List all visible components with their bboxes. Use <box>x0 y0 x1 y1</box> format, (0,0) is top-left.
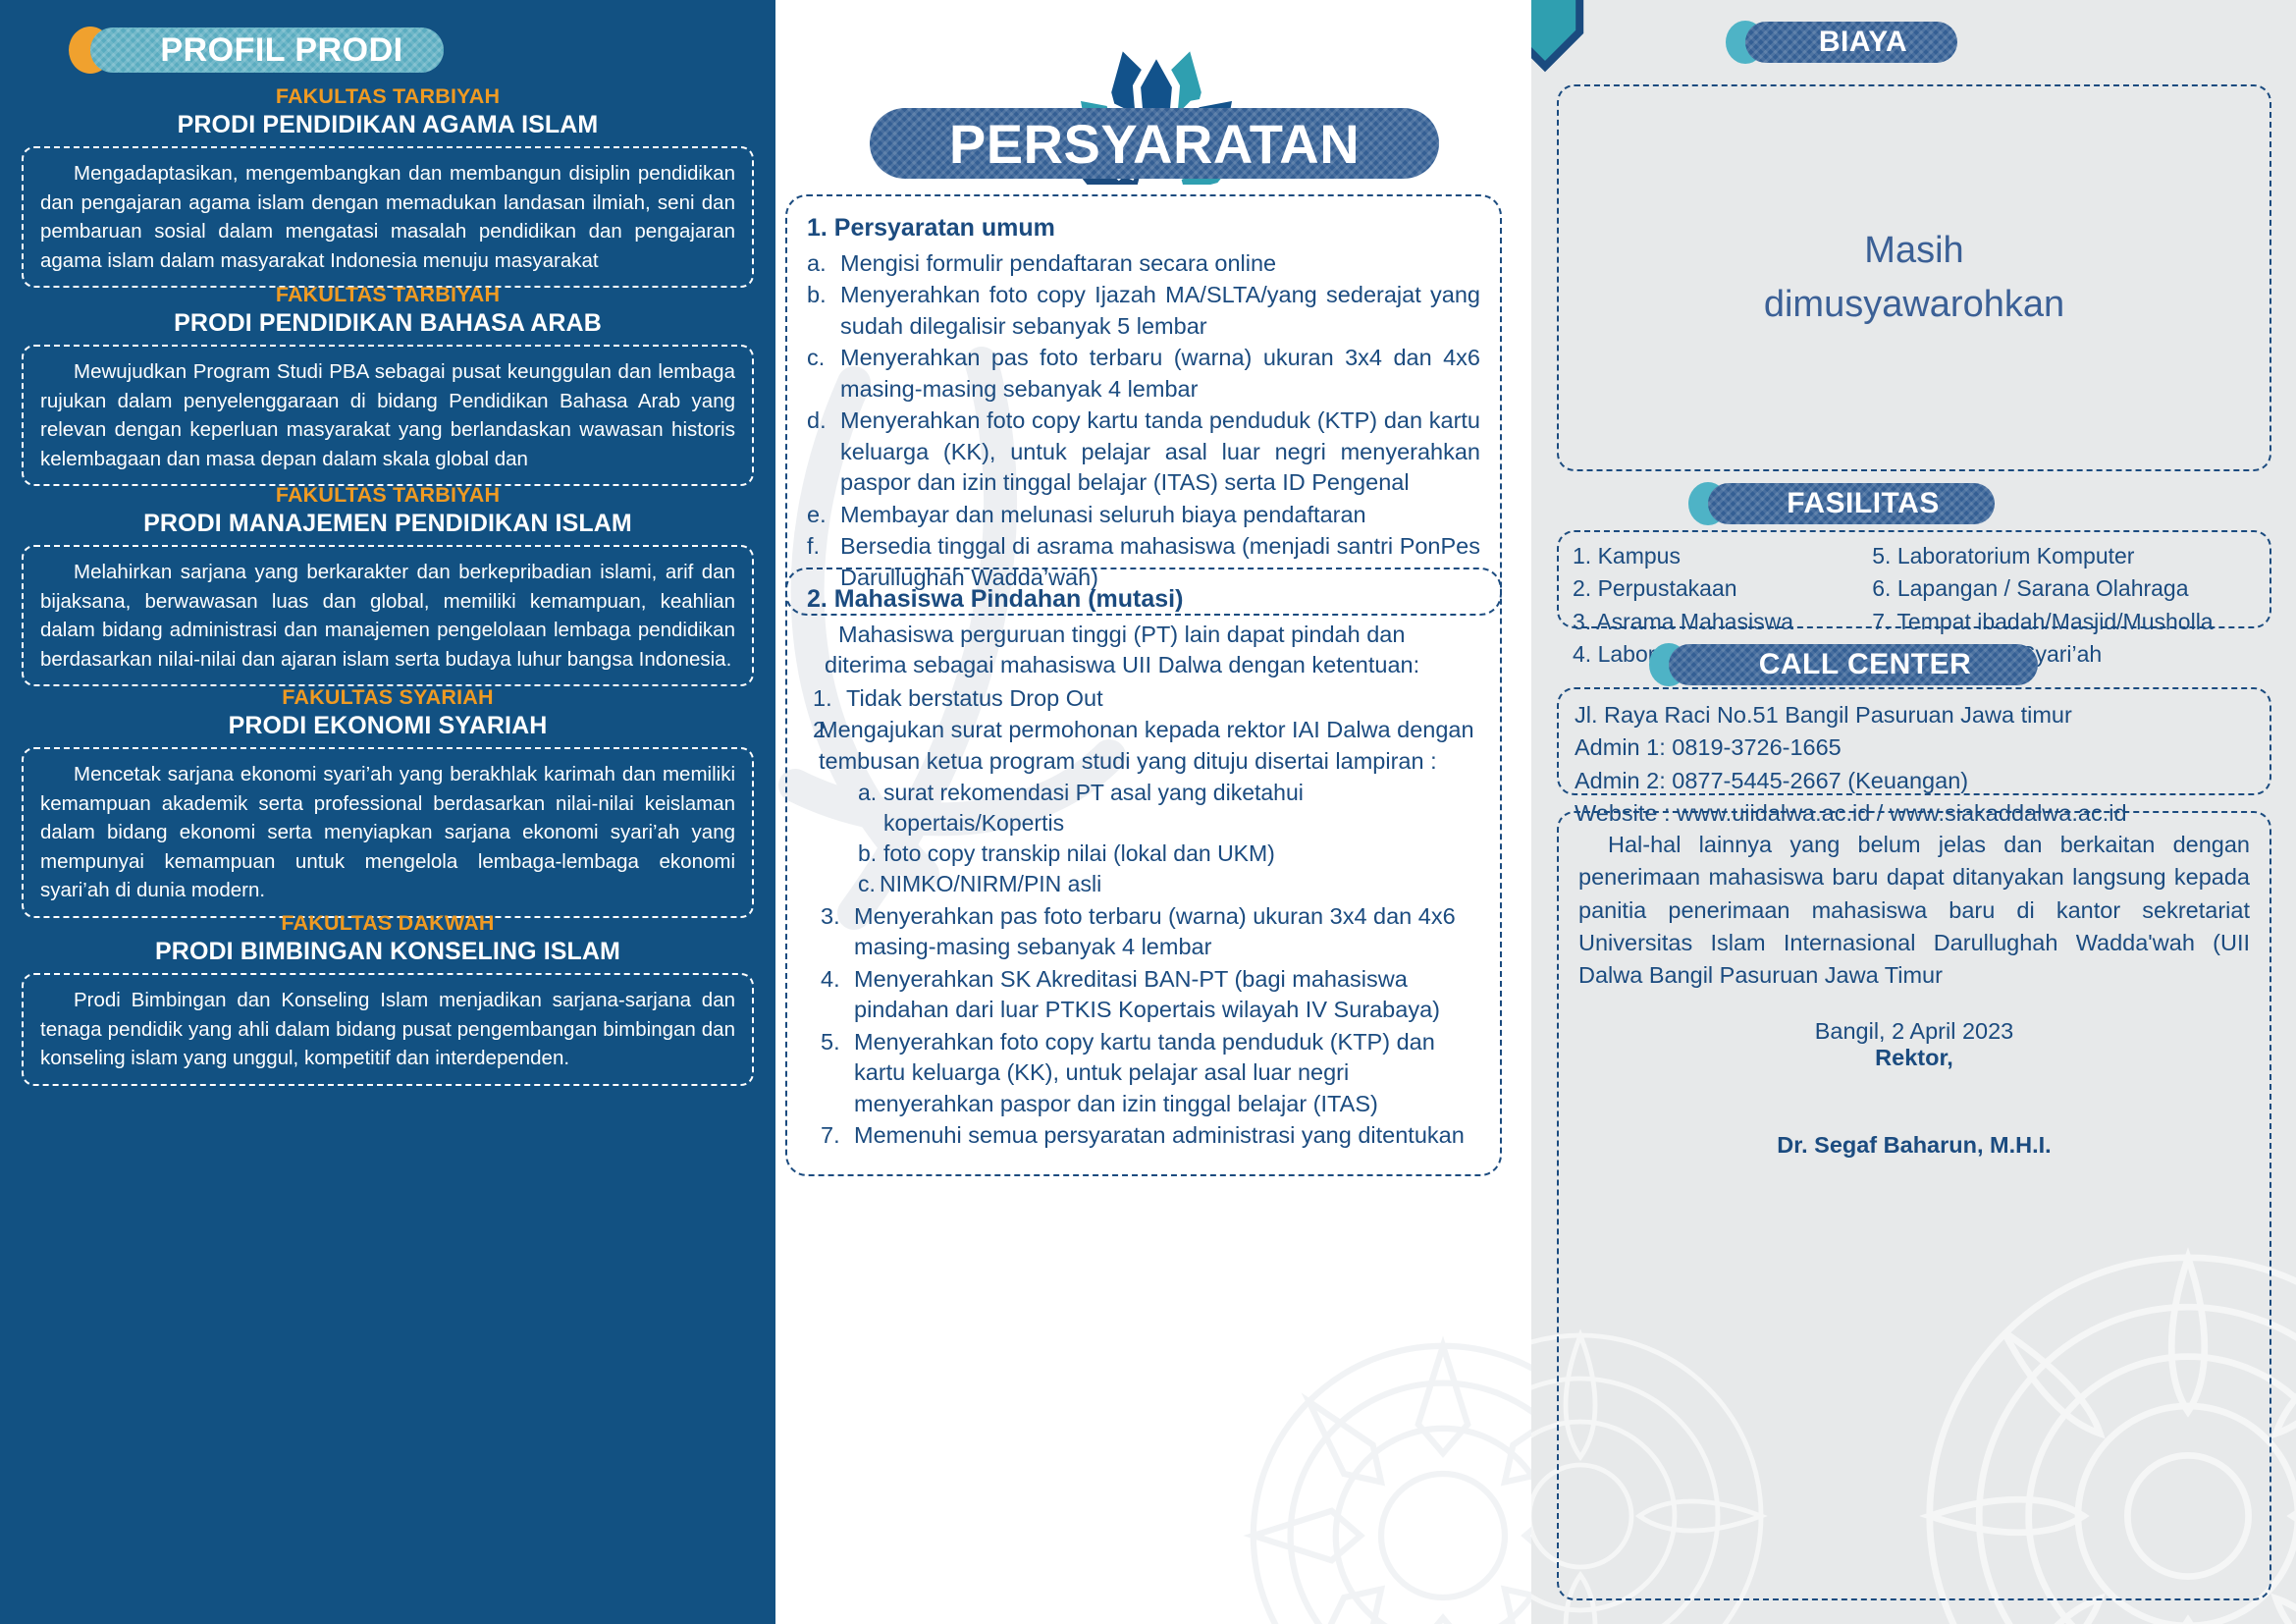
list-item: d. Menyerahkan foto copy kartu tanda pen… <box>807 406 1480 498</box>
list-item: a. surat rekomendasi PT asal yang diketa… <box>858 778 1480 839</box>
signer-name: Dr. Segaf Baharun, M.H.I. <box>1578 1132 2250 1159</box>
list-text: Menyerahkan foto copy kartu tanda pendud… <box>840 406 1480 498</box>
list-item: 4. Menyerahkan SK Akreditasi BAN-PT (bag… <box>821 964 1480 1026</box>
list-text: Membayar dan melunasi seluruh biaya pend… <box>840 500 1480 530</box>
list-text: NIMKO/NIRM/PIN asli <box>880 869 1101 899</box>
fasilitas-box: 1. Kampus 2. Perpustakaan 3. Asrama Maha… <box>1557 530 2271 628</box>
list-text: Memenuhi semua persyaratan administrasi … <box>854 1120 1480 1151</box>
list-item: 7. Tempat ibadah/Masjid/Musholla <box>1872 606 2256 638</box>
program-description: Melahirkan sarjana yang berkarakter dan … <box>40 558 735 674</box>
list-text: Mengisi formulir pendaftaran secara onli… <box>840 248 1480 279</box>
list-text: Menyerahkan pas foto terbaru (warna) uku… <box>854 901 1480 963</box>
list-item: 3. Asrama Mahasiswa <box>1573 606 1872 638</box>
section-title: 1. Persyaratan umum <box>807 214 1480 243</box>
program-description-box: Mencetak sarjana ekonomi syari’ah yang b… <box>22 747 754 918</box>
program-name: PRODI PENDIDIKAN BAHASA ARAB <box>22 309 754 338</box>
program-description-box: Prodi Bimbingan dan Konseling Islam menj… <box>22 973 754 1086</box>
list-item: e. Membayar dan melunasi seluruh biaya p… <box>807 500 1480 530</box>
list-marker: c. <box>858 869 880 899</box>
list-item: 6. Lapangan / Sarana Olahraga <box>1872 572 2256 605</box>
list-item: 3. Menyerahkan pas foto terbaru (warna) … <box>821 901 1480 963</box>
footer-note: Hal-hal lainnya yang belum jelas dan ber… <box>1578 829 2250 993</box>
fasilitas-header-label: FASILITAS <box>1708 483 1995 524</box>
footer-note-text: Hal-hal lainnya yang belum jelas dan ber… <box>1578 829 2250 993</box>
list-marker: 7. <box>821 1120 854 1151</box>
faculty-name: FAKULTAS TARBIYAH <box>22 483 754 508</box>
biaya-value: Masih dimusyawarohkan <box>1764 224 2064 332</box>
admin1-line[interactable]: Admin 1: 0819-3726-1665 <box>1575 731 2254 764</box>
admin2-line[interactable]: Admin 2: 0877-5445-2667 (Keuangan) <box>1575 765 2254 797</box>
list-marker: 3. <box>821 901 854 963</box>
list-text: Menyerahkan foto copy Ijazah MA/SLTA/yan… <box>840 280 1480 342</box>
program-block-3: FAKULTAS TARBIYAH PRODI MANAJEMEN PENDID… <box>22 483 754 686</box>
list-marker: a. <box>807 248 840 279</box>
list-item: 2. Perpustakaan <box>1573 572 1872 605</box>
list-item: a. Mengisi formulir pendaftaran secara o… <box>807 248 1480 279</box>
footer-note-box: Hal-hal lainnya yang belum jelas dan ber… <box>1557 811 2271 1600</box>
program-description: Mencetak sarjana ekonomi syari’ah yang b… <box>40 760 735 905</box>
program-description: Prodi Bimbingan dan Konseling Islam menj… <box>40 986 735 1073</box>
transfer-attachments-list: a. surat rekomendasi PT asal yang diketa… <box>858 778 1480 898</box>
list-marker: b. <box>807 280 840 342</box>
list-item: 5. Menyerahkan foto copy kartu tanda pen… <box>821 1027 1480 1119</box>
program-description: Mewujudkan Program Studi PBA sebagai pus… <box>40 357 735 473</box>
persyaratan-header: PERSYARATAN <box>870 108 1439 179</box>
list-item: c. Menyerahkan pas foto terbaru (warna) … <box>807 343 1480 405</box>
program-description-box: Mewujudkan Program Studi PBA sebagai pus… <box>22 345 754 486</box>
list-item: 1. Tidak berstatus Drop Out <box>813 683 1480 714</box>
list-item: c. NIMKO/NIRM/PIN asli <box>858 869 1480 899</box>
program-name: PRODI MANAJEMEN PENDIDIKAN ISLAM <box>22 510 754 538</box>
program-name: PRODI BIMBINGAN KONSELING ISLAM <box>22 938 754 966</box>
profil-prodi-panel: PROFIL PRODI FAKULTAS TARBIYAH PRODI PEN… <box>0 0 775 1624</box>
mandala-watermark-icon <box>1237 1329 1531 1624</box>
program-block-2: FAKULTAS TARBIYAH PRODI PENDIDIKAN BAHAS… <box>22 283 754 486</box>
faculty-name: FAKULTAS TARBIYAH <box>22 84 754 109</box>
biaya-value-line2: dimusyawarohkan <box>1764 278 2064 332</box>
list-marker: b. <box>858 839 883 869</box>
signature-block: Bangil, 2 April 2023 Rektor, Dr. Segaf B… <box>1578 1018 2250 1159</box>
info-panel: BIAYA Masih dimusyawarohkan FASILITAS 1.… <box>1531 0 2296 1624</box>
biaya-header: BIAYA <box>1745 22 1957 63</box>
list-text: surat rekomendasi PT asal yang diketahui… <box>883 778 1480 839</box>
profil-prodi-header-label: PROFIL PRODI <box>90 27 444 73</box>
list-text: Menyerahkan foto copy kartu tanda pendud… <box>854 1027 1480 1119</box>
signer-title: Rektor, <box>1578 1045 2250 1071</box>
general-requirements-list: a. Mengisi formulir pendaftaran secara o… <box>807 248 1480 593</box>
list-text: Menyerahkan pas foto terbaru (warna) uku… <box>840 343 1480 405</box>
list-text: Tidak berstatus Drop Out <box>846 683 1480 714</box>
requirements-transfer-box: 2. Mahasiswa Pindahan (mutasi) Mahasiswa… <box>785 568 1502 1176</box>
program-description-box: Melahirkan sarjana yang berkarakter dan … <box>22 545 754 686</box>
brochure-page: PROFIL PRODI FAKULTAS TARBIYAH PRODI PEN… <box>0 0 2296 1624</box>
list-marker: 5. <box>821 1027 854 1119</box>
profil-prodi-header: PROFIL PRODI <box>90 27 444 73</box>
biaya-box: Masih dimusyawarohkan <box>1557 84 2271 471</box>
list-text: Mengajukan surat permohonan kepada rekto… <box>819 715 1480 777</box>
list-marker: 4. <box>821 964 854 1026</box>
faculty-name: FAKULTAS SYARIAH <box>22 685 754 710</box>
list-item: 5. Laboratorium Komputer <box>1872 540 2256 572</box>
program-name: PRODI PENDIDIKAN AGAMA ISLAM <box>22 111 754 139</box>
call-center-header: CALL CENTER <box>1669 644 2038 685</box>
list-marker: d. <box>807 406 840 498</box>
biaya-value-line1: Masih <box>1764 224 2064 278</box>
persyaratan-header-label: PERSYARATAN <box>870 108 1439 179</box>
program-block-5: FAKULTAS DAKWAH PRODI BIMBINGAN KONSELIN… <box>22 911 754 1086</box>
place-date: Bangil, 2 April 2023 <box>1578 1018 2250 1045</box>
faculty-name: FAKULTAS DAKWAH <box>22 911 754 936</box>
list-item: 2. Mengajukan surat permohonan kepada re… <box>813 715 1480 777</box>
list-item: 1. Kampus <box>1573 540 1872 572</box>
transfer-requirements-list: 1. Tidak berstatus Drop Out 2. Mengajuka… <box>813 683 1480 777</box>
list-item: b. foto copy transkip nilai (lokal dan U… <box>858 839 1480 869</box>
persyaratan-panel: PERSYARATAN 1. Persyaratan umum a. Mengi… <box>775 0 1531 1624</box>
call-center-header-label: CALL CENTER <box>1669 644 2038 685</box>
biaya-header-label: BIAYA <box>1745 22 1957 63</box>
address-line: Jl. Raya Raci No.51 Bangil Pasuruan Jawa… <box>1575 699 2254 731</box>
faculty-name: FAKULTAS TARBIYAH <box>22 283 754 307</box>
fasilitas-header: FASILITAS <box>1708 483 1995 524</box>
list-text: foto copy transkip nilai (lokal dan UKM) <box>883 839 1275 869</box>
list-item: b. Menyerahkan foto copy Ijazah MA/SLTA/… <box>807 280 1480 342</box>
transfer-requirements-rest: 3. Menyerahkan pas foto terbaru (warna) … <box>821 901 1480 1152</box>
transfer-intro: Mahasiswa perguruan tinggi (PT) lain dap… <box>825 620 1480 681</box>
call-center-box: Jl. Raya Raci No.51 Bangil Pasuruan Jawa… <box>1557 687 2271 795</box>
program-block-4: FAKULTAS SYARIAH PRODI EKONOMI SYARIAH M… <box>22 685 754 918</box>
list-marker: e. <box>807 500 840 530</box>
program-description-box: Mengadaptasikan, mengembangkan dan memba… <box>22 146 754 288</box>
list-text: Menyerahkan SK Akreditasi BAN-PT (bagi m… <box>854 964 1480 1026</box>
program-block-1: FAKULTAS TARBIYAH PRODI PENDIDIKAN AGAMA… <box>22 84 754 288</box>
list-marker: a. <box>858 778 883 839</box>
list-marker: c. <box>807 343 840 405</box>
program-name: PRODI EKONOMI SYARIAH <box>22 712 754 740</box>
requirements-general-box: 1. Persyaratan umum a. Mengisi formulir … <box>785 194 1502 616</box>
list-marker: 1. <box>813 683 846 714</box>
section-title: 2. Mahasiswa Pindahan (mutasi) <box>807 585 1480 614</box>
list-item: 7. Memenuhi semua persyaratan administra… <box>821 1120 1480 1151</box>
program-description: Mengadaptasikan, mengembangkan dan memba… <box>40 159 735 275</box>
